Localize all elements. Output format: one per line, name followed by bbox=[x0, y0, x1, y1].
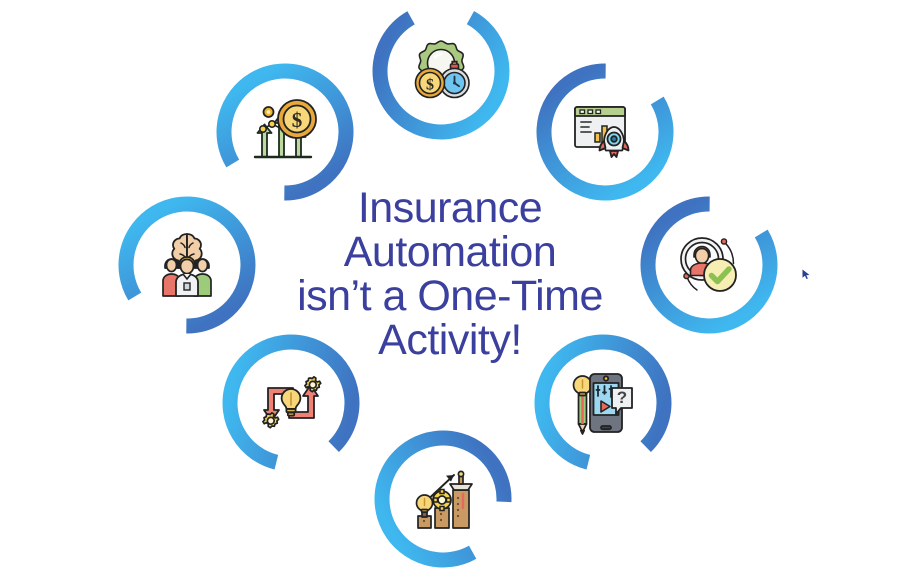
growth-arrows-coin-icon: $ bbox=[248, 95, 322, 169]
badge-scaling-innovation[interactable] bbox=[374, 430, 512, 568]
svg-text:$: $ bbox=[292, 108, 303, 132]
badge-performance-launch[interactable] bbox=[536, 63, 674, 201]
svg-text:$: $ bbox=[426, 77, 434, 94]
dashboard-rocket-icon bbox=[568, 95, 642, 169]
badge-verified-customer[interactable] bbox=[640, 196, 778, 334]
mouse-pointer-icon bbox=[802, 269, 811, 279]
badge-improvement-cycle[interactable] bbox=[222, 334, 360, 472]
badge-revenue-growth[interactable]: $ bbox=[216, 63, 354, 201]
gear-coin-stopwatch-icon: $ bbox=[404, 34, 478, 108]
growth-bars-bulb-gear-rocket-icon bbox=[406, 462, 480, 536]
team-brain-icon bbox=[150, 228, 224, 302]
infographic-canvas: Insurance Automation isn’t a One-Time Ac… bbox=[0, 0, 900, 571]
svg-text:?: ? bbox=[617, 388, 627, 407]
badge-team-intelligence[interactable] bbox=[118, 196, 256, 334]
user-checkmark-icon bbox=[672, 228, 746, 302]
badge-mobile-support[interactable]: ? bbox=[534, 334, 672, 472]
process-loop-gears-bulb-icon bbox=[254, 366, 328, 440]
badge-cost-time-savings[interactable]: $ bbox=[372, 2, 510, 140]
smartphone-sliders-question-icon: ? bbox=[566, 366, 640, 440]
